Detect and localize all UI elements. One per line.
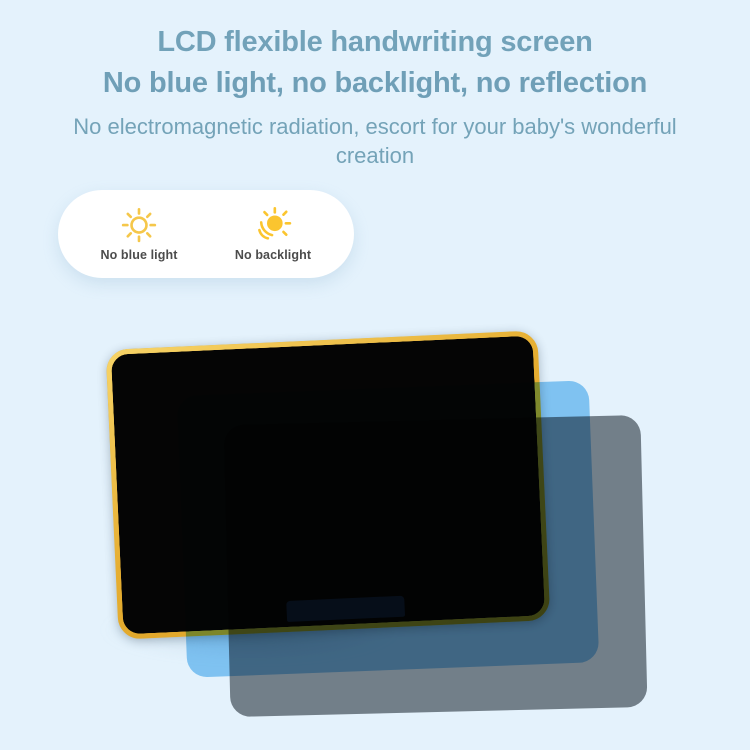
headline-primary: LCD flexible handwriting screen (0, 24, 750, 61)
gray-translucent-sheet-layer (223, 415, 647, 717)
page-root: LCD flexible handwriting screen No blue … (0, 0, 750, 750)
sun-filled-rays-icon (250, 206, 296, 246)
feature-label-no-blue-light: No blue light (101, 248, 178, 262)
product-image-stack (0, 300, 750, 750)
feature-label-no-backlight: No backlight (235, 248, 311, 262)
feature-item-no-backlight: No backlight (209, 206, 337, 262)
headline-secondary: No blue light, no backlight, no reflecti… (0, 65, 750, 102)
subtitle-text: No electromagnetic radiation, escort for… (0, 112, 750, 170)
feature-badge-card: No blue light (58, 190, 354, 278)
sun-outline-icon (116, 206, 162, 246)
feature-item-no-blue-light: No blue light (75, 206, 203, 262)
header-text-block: LCD flexible handwriting screen No blue … (0, 0, 750, 170)
